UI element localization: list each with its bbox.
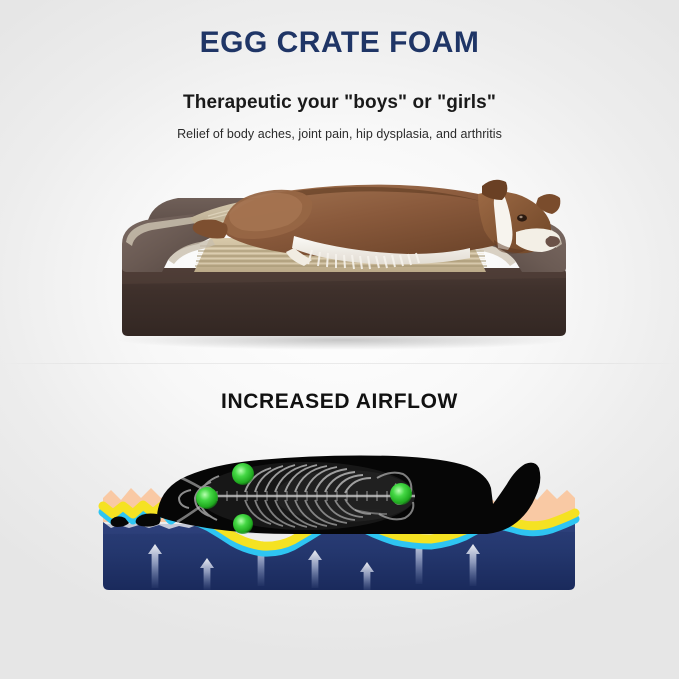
airflow-cross-section-diagram — [95, 426, 585, 611]
airflow-title: INCREASED AIRFLOW — [0, 390, 679, 414]
panel-subcopy: Relief of body aches, joint pain, hip dy… — [0, 127, 679, 141]
pressure-point — [196, 487, 218, 509]
product-infographic-page: EGG CRATE FOAM Therapeutic your "boys" o… — [0, 0, 679, 679]
panel-subtitle: Therapeutic your "boys" or "girls" — [0, 92, 679, 114]
increased-airflow-panel: INCREASED AIRFLOW — [0, 364, 679, 679]
dog-on-orthopedic-bed-photo — [98, 160, 582, 352]
page-title: EGG CRATE FOAM — [0, 26, 679, 60]
pressure-point — [233, 514, 253, 534]
egg-crate-foam-panel: EGG CRATE FOAM Therapeutic your "boys" o… — [0, 0, 679, 363]
pressure-point — [232, 463, 254, 485]
pressure-point — [390, 483, 412, 505]
